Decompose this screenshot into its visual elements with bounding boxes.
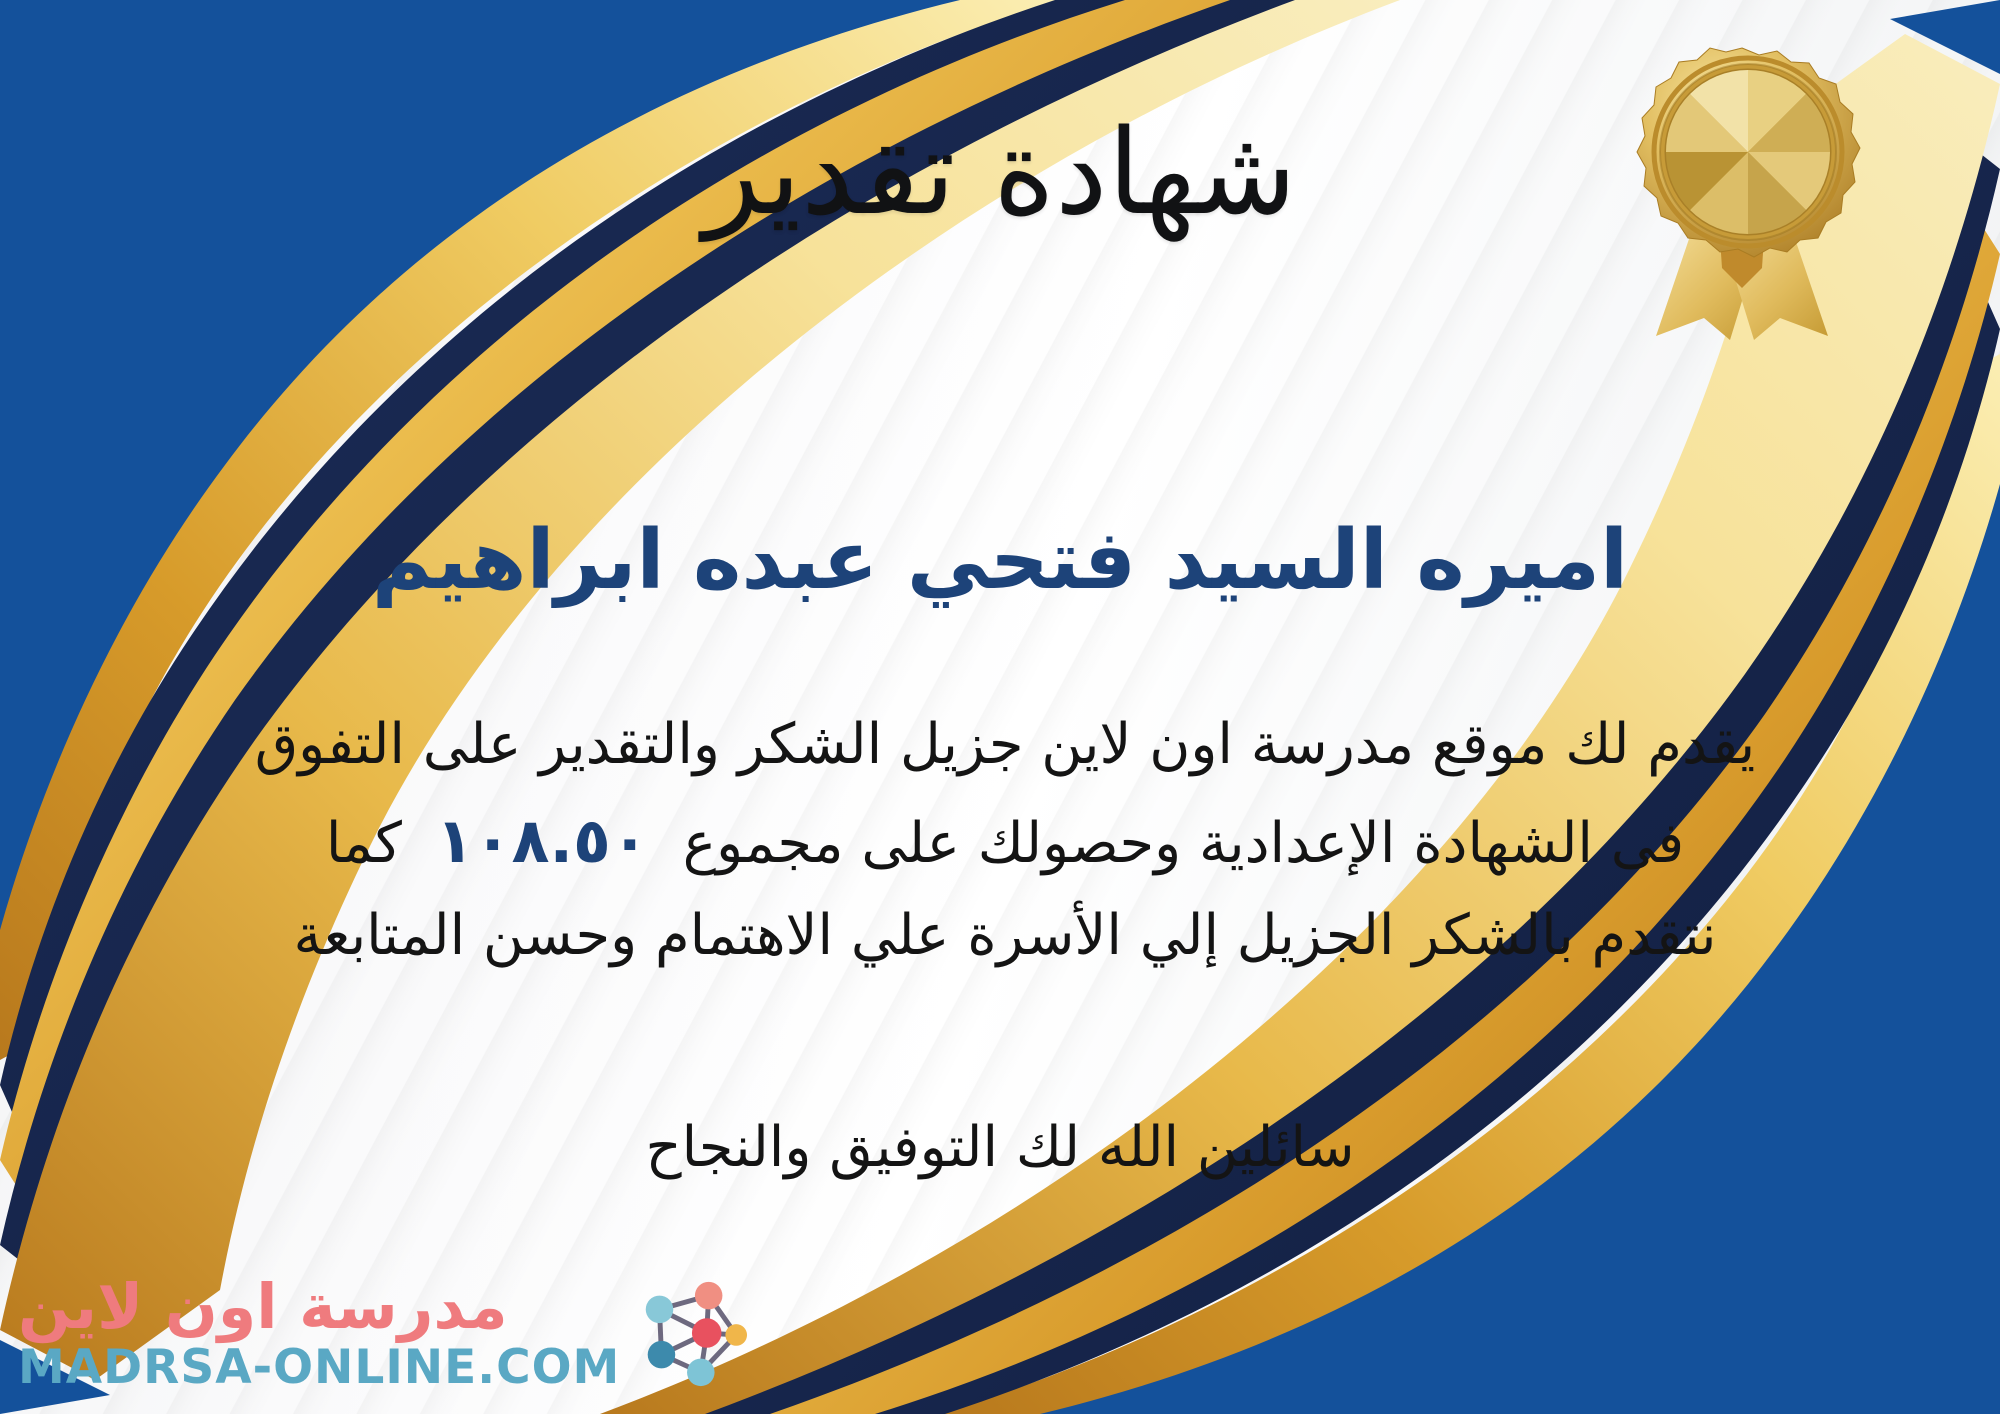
body-line-3: نتقدم بالشكر الجزيل إلي الأسرة علي الاهت… — [70, 891, 1940, 982]
network-nodes-icon — [630, 1274, 748, 1392]
body-line-2-prefix: فى الشهادة الإعدادية وحصولك على مجموع — [683, 811, 1685, 876]
page-title: شهادة تقدير — [0, 108, 2000, 238]
body-line-2-suffix: كما — [326, 811, 402, 876]
score-value: ١٠٨.٥٠ — [402, 804, 683, 877]
certificate-canvas: شهادة تقدير اميره السيد فتحي عبده ابراهي… — [0, 0, 2000, 1414]
body-line-2: فى الشهادة الإعدادية وحصولك على مجموع١٠٨… — [70, 791, 1940, 891]
brand-website: MADRSA-ONLINE.COM — [18, 1344, 620, 1391]
closing-wish: سائلين الله لك التوفيق والنجاح — [0, 1115, 2000, 1180]
certificate-body: يقدم لك موقع مدرسة اون لاين جزيل الشكر و… — [70, 700, 1940, 982]
brand-arabic-name: مدرسة اون لاين — [18, 1276, 508, 1338]
recipient-name: اميره السيد فتحي عبده ابراهيم — [0, 512, 2000, 610]
brand-logo[interactable]: مدرسة اون لاين MADRSA-ONLINE.COM — [18, 1274, 748, 1392]
body-line-1: يقدم لك موقع مدرسة اون لاين جزيل الشكر و… — [70, 700, 1940, 791]
certificate-content: شهادة تقدير اميره السيد فتحي عبده ابراهي… — [0, 0, 2000, 1414]
brand-text: مدرسة اون لاين MADRSA-ONLINE.COM — [18, 1276, 620, 1391]
